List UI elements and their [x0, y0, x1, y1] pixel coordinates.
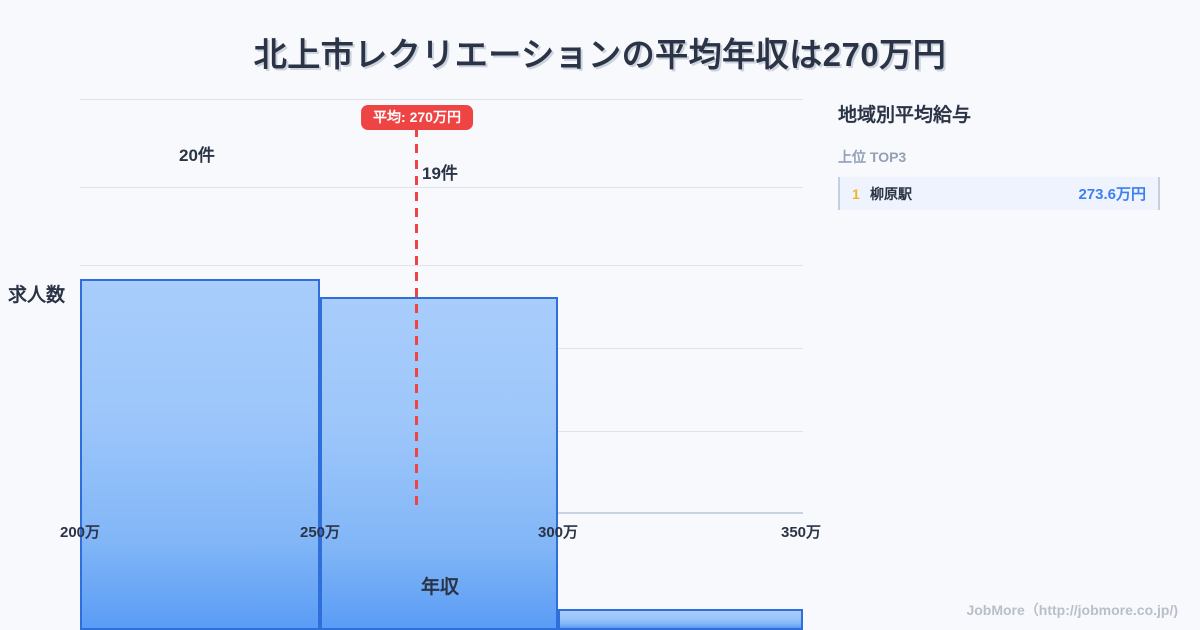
list-item[interactable]: 1 柳原駅 273.6万円: [840, 177, 1158, 210]
side-panel-subtitle: 上位 TOP3: [838, 147, 1160, 167]
gridline: [80, 187, 803, 188]
bar-value-label: 20件: [179, 141, 215, 166]
average-line: [415, 128, 418, 512]
chart-plot-area: 20件 19件 平均: 270万円 200万 250万 300万 350万 年収…: [0, 0, 1200, 630]
gridline: [80, 265, 803, 266]
x-axis-tick: 300万: [538, 521, 578, 542]
watermark-footer: JobMore（http://jobmore.co.jp/): [966, 600, 1178, 620]
side-panel-title: 地域別平均給与: [838, 100, 1160, 127]
rank-number: 1: [852, 186, 870, 202]
regional-salary-panel: 地域別平均給与 上位 TOP3 1 柳原駅 273.6万円: [838, 100, 1160, 210]
gridline: [80, 99, 803, 100]
rank-name: 柳原駅: [870, 184, 1078, 204]
rank-value: 273.6万円: [1078, 183, 1146, 204]
x-axis-tick: 250万: [300, 521, 340, 542]
x-axis-tick: 350万: [781, 521, 821, 542]
y-axis-title: 求人数: [8, 280, 65, 307]
histogram-bar[interactable]: [558, 609, 803, 630]
bar-value-label: 19件: [422, 159, 458, 184]
x-axis-tick: 200万: [60, 521, 100, 542]
ranking-list: 1 柳原駅 273.6万円: [838, 177, 1160, 210]
average-badge: 平均: 270万円: [361, 105, 473, 130]
x-axis-title: 年収: [0, 572, 880, 599]
